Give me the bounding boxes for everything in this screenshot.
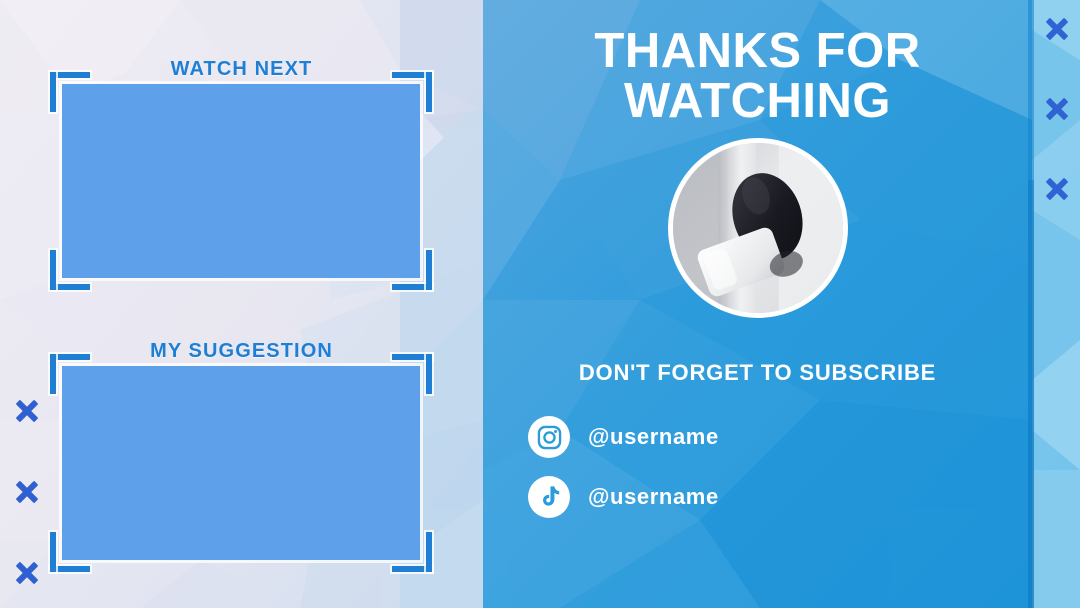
watch-next-thumbnail[interactable] <box>62 84 420 278</box>
social-row-instagram[interactable]: @username <box>528 416 719 458</box>
watch-next-bracket-top-left <box>50 72 90 112</box>
my-suggestion-bracket-bottom-left <box>50 532 90 572</box>
instagram-glyph <box>536 424 563 451</box>
instagram-icon[interactable] <box>528 416 570 458</box>
social-row-tiktok[interactable]: @username <box>528 476 719 518</box>
tiktok-glyph <box>536 484 562 510</box>
watch-next-bracket-top-right <box>392 72 432 112</box>
tiktok-icon[interactable] <box>528 476 570 518</box>
headline-line-2: WATCHING <box>483 76 1032 126</box>
close-icon-left-1[interactable] <box>14 398 40 424</box>
my-suggestion-thumbnail[interactable] <box>62 366 420 560</box>
watch-next-bracket-bottom-left <box>50 250 90 290</box>
my-suggestion-bracket-top-left <box>50 354 90 394</box>
slot-watch-next[interactable]: WATCH NEXT <box>0 0 483 304</box>
end-screen-canvas: WATCH NEXT MY SUGGESTION THANKS FOR WATC… <box>0 0 1080 608</box>
channel-avatar[interactable] <box>668 138 848 318</box>
page-title: THANKS FOR WATCHING <box>483 26 1032 126</box>
close-icon-right-2[interactable] <box>1044 96 1070 122</box>
watch-next-bracket-bottom-right <box>392 250 432 290</box>
close-icon-right-1[interactable] <box>1044 16 1070 42</box>
slot-my-suggestion[interactable]: MY SUGGESTION <box>0 304 483 608</box>
microphone-photo <box>673 143 843 313</box>
close-icon-left-2[interactable] <box>14 479 40 505</box>
close-icon-right-3[interactable] <box>1044 176 1070 202</box>
instagram-handle: @username <box>588 424 719 450</box>
my-suggestion-bracket-bottom-right <box>392 532 432 572</box>
tiktok-handle: @username <box>588 484 719 510</box>
close-icon-left-3[interactable] <box>14 560 40 586</box>
subscribe-cta-text: DON'T FORGET TO SUBSCRIBE <box>483 360 1032 386</box>
headline-line-1: THANKS FOR <box>594 24 920 78</box>
my-suggestion-bracket-top-right <box>392 354 432 394</box>
